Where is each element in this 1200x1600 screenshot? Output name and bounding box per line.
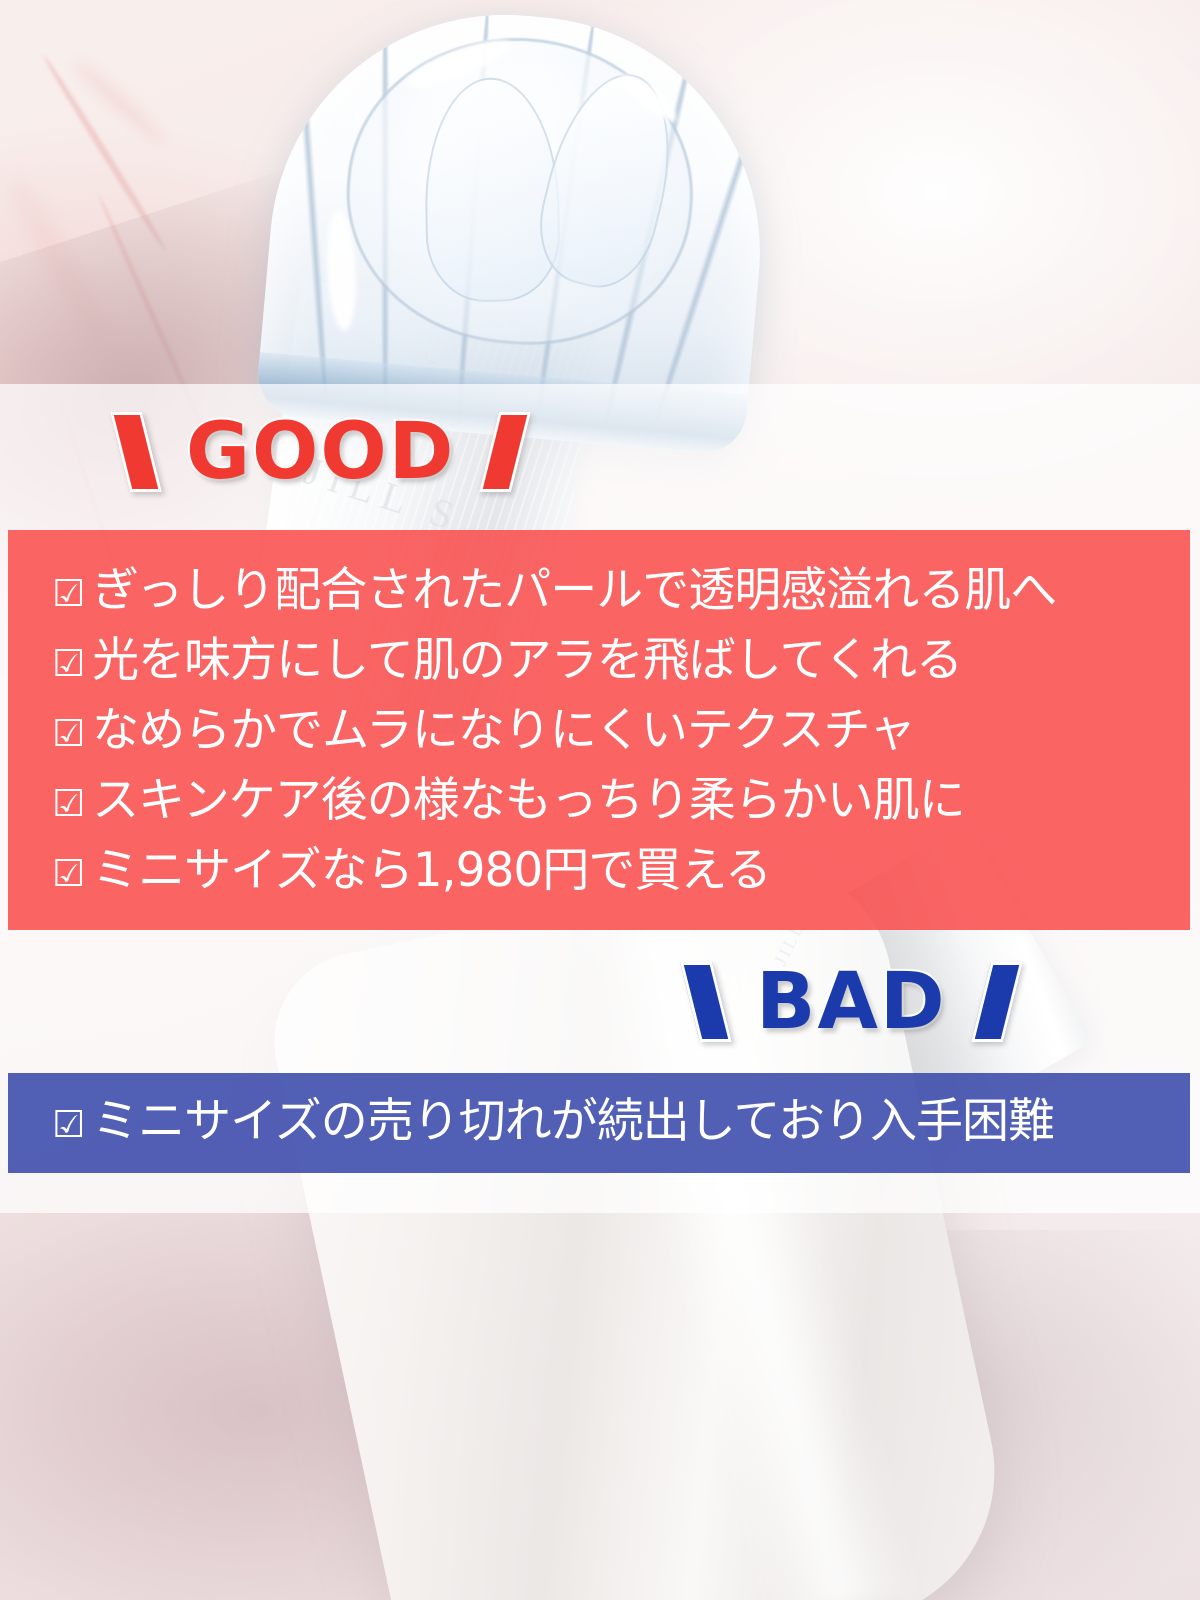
list-item: ☑ ミニサイズなら1,980円で買える xyxy=(52,836,1190,906)
checkbox-icon: ☑ xyxy=(52,575,84,612)
list-item-label: なめらかでムラになりにくいテクスチャ xyxy=(92,696,915,766)
list-item-label: ミニサイズの売り切れが続出しており入手困難 xyxy=(92,1087,1054,1157)
good-heading-label: GOOD xyxy=(186,417,455,487)
list-item-label: ぎっしり配合されたパールで透明感溢れる肌へ xyxy=(92,556,1056,626)
bad-heading-label: BAD xyxy=(756,967,947,1037)
checkbox-icon: ☑ xyxy=(52,645,84,682)
list-item: ☑ なめらかでムラになりにくいテクスチャ xyxy=(52,696,1190,766)
good-banner: ☑ ぎっしり配合されたパールで透明感溢れる肌へ ☑ 光を味方にして肌のアラを飛ば… xyxy=(8,530,1190,930)
checkbox-icon: ☑ xyxy=(52,1106,84,1143)
list-item-label: 光を味方にして肌のアラを飛ばしてくれる xyxy=(92,626,962,696)
infographic-canvas: JILL S JILL S JILL S xyxy=(0,0,1200,1600)
list-item-label: ミニサイズなら1,980円で買える xyxy=(92,836,771,906)
bad-banner: ☑ ミニサイズの売り切れが続出しており入手困難 xyxy=(8,1073,1190,1173)
checkbox-icon: ☑ xyxy=(52,715,84,752)
good-heading-group: GOOD xyxy=(120,412,521,492)
list-item: ☑ ぎっしり配合されたパールで透明感溢れる肌へ xyxy=(52,556,1190,626)
list-item: ☑ 光を味方にして肌のアラを飛ばしてくれる xyxy=(52,626,1190,696)
list-item-label: スキンケア後の様なもっちり柔らかい肌に xyxy=(92,766,965,836)
list-item: ☑ スキンケア後の様なもっちり柔らかい肌に xyxy=(52,766,1190,836)
checkbox-icon: ☑ xyxy=(52,785,84,822)
list-item: ☑ ミニサイズの売り切れが続出しており入手困難 xyxy=(52,1087,1190,1157)
bad-heading-group: BAD xyxy=(690,962,1013,1042)
checkbox-icon: ☑ xyxy=(52,855,84,892)
